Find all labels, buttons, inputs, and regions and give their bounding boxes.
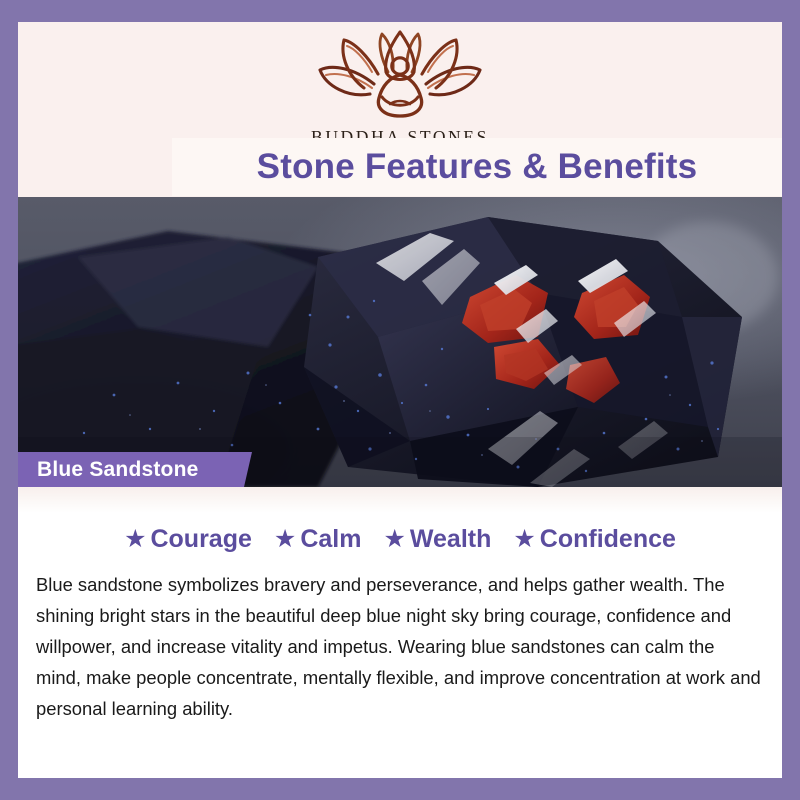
poster-root: BUDDHA STONES Stone Features & Benefits xyxy=(0,0,800,800)
benefit-label: Wealth xyxy=(410,525,492,554)
stone-description: Blue sandstone symbolizes bravery and pe… xyxy=(36,569,764,724)
benefit-item-confidence: ★ Confidence xyxy=(513,525,676,554)
lotus-meditation-icon xyxy=(314,28,486,125)
page-title: Stone Features & Benefits xyxy=(257,147,698,187)
stone-name-label: Blue Sandstone xyxy=(18,452,252,487)
title-band: Stone Features & Benefits xyxy=(172,138,782,196)
content-panel: ★ Courage ★ Calm ★ Wealth ★ Confidence B… xyxy=(18,487,782,778)
benefits-row: ★ Courage ★ Calm ★ Wealth ★ Confidence xyxy=(18,525,782,554)
benefit-label: Calm xyxy=(300,525,361,554)
content-top-fade xyxy=(18,487,782,513)
brand-logo-block: BUDDHA STONES xyxy=(18,22,782,140)
benefit-label: Courage xyxy=(150,525,251,554)
benefit-item-calm: ★ Calm xyxy=(274,525,362,554)
star-icon: ★ xyxy=(513,527,535,552)
benefit-item-wealth: ★ Wealth xyxy=(383,525,491,554)
star-icon: ★ xyxy=(274,527,296,552)
page-surface: BUDDHA STONES Stone Features & Benefits xyxy=(18,22,782,778)
star-icon: ★ xyxy=(124,527,146,552)
stone-name-text: Blue Sandstone xyxy=(37,458,199,482)
star-icon: ★ xyxy=(383,527,405,552)
benefit-label: Confidence xyxy=(540,525,676,554)
benefit-item-courage: ★ Courage xyxy=(124,525,252,554)
stone-photo xyxy=(18,197,782,487)
